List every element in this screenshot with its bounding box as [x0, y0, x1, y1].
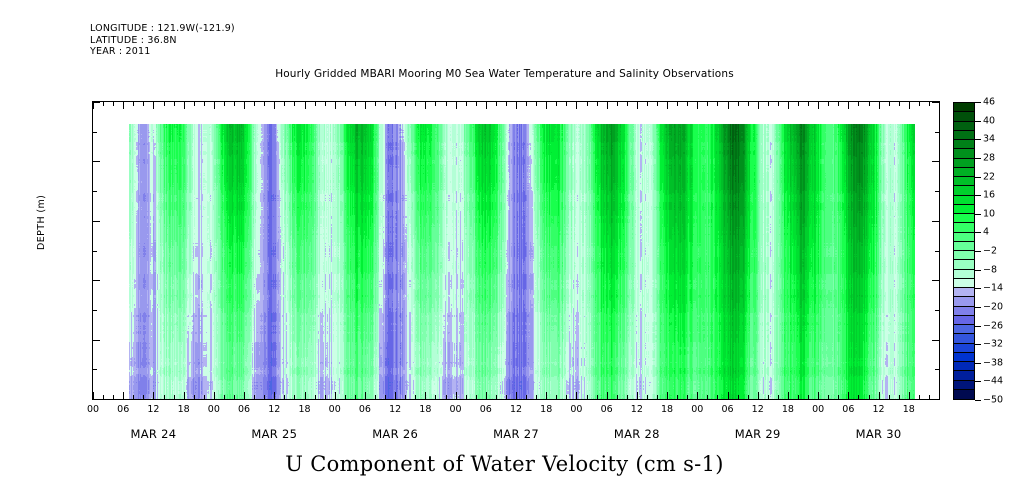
x-tick [476, 102, 477, 106]
x-tick [838, 102, 839, 106]
colorbar-tick-label: 4 [983, 227, 989, 238]
year-text: YEAR : 2011 [90, 46, 235, 58]
x-tick [224, 102, 225, 106]
colorbar-band [954, 362, 974, 371]
x-tick [315, 395, 316, 399]
day-label: MAR 27 [471, 427, 561, 441]
x-tick [607, 102, 608, 109]
colorbar-tick-label: 46 [983, 97, 995, 108]
day-label: MAR 25 [229, 427, 319, 441]
colorbar-band [954, 353, 974, 362]
longitude-text: LONGITUDE : 121.9W(-121.9) [90, 23, 235, 35]
x-tick [576, 392, 577, 399]
colorbar-band [954, 186, 974, 195]
x-tick [697, 392, 698, 399]
y-tick [935, 191, 939, 192]
y-tick [93, 102, 100, 103]
y-tick [932, 340, 939, 341]
x-tick [738, 395, 739, 399]
x-tick [184, 102, 185, 109]
colorbar-tick [975, 344, 981, 345]
y-tick [935, 369, 939, 370]
x-tick [657, 102, 658, 106]
x-tick [566, 102, 567, 106]
x-tick [627, 102, 628, 106]
colorbar-band [954, 325, 974, 334]
y-tick [93, 310, 97, 311]
x-tick [516, 102, 517, 109]
x-tick [466, 102, 467, 106]
x-tick [919, 395, 920, 399]
heatmap-plot-area [92, 101, 940, 400]
x-tick [405, 395, 406, 399]
colorbar-band [954, 288, 974, 297]
x-tick [244, 102, 245, 109]
x-tick [738, 102, 739, 106]
x-tick [435, 102, 436, 106]
colorbar-band [954, 159, 974, 168]
x-tick [778, 102, 779, 106]
x-tick [365, 392, 366, 399]
x-tick [466, 395, 467, 399]
x-tick [637, 102, 638, 109]
x-tick [526, 395, 527, 399]
day-label: MAR 28 [592, 427, 682, 441]
x-tick [506, 102, 507, 106]
colorbar-band [954, 205, 974, 214]
x-tick [879, 392, 880, 399]
x-tick [164, 102, 165, 106]
x-tick [556, 102, 557, 106]
y-tick [93, 280, 100, 281]
colorbar-tick-label: −38 [983, 357, 1003, 368]
hour-tick-label: 00 [682, 404, 712, 415]
x-tick [345, 102, 346, 106]
x-tick [385, 395, 386, 399]
colorbar-band [954, 297, 974, 306]
x-tick [264, 102, 265, 106]
colorbar-band [954, 196, 974, 205]
hour-tick-label: 06 [471, 404, 501, 415]
velocity-heatmap-canvas [129, 124, 915, 399]
x-tick [848, 392, 849, 399]
x-tick [808, 395, 809, 399]
x-tick [647, 102, 648, 106]
x-tick [194, 102, 195, 106]
colorbar-tick-label: −14 [983, 283, 1003, 294]
colorbar-tick [975, 232, 981, 233]
x-tick [889, 102, 890, 106]
hour-tick-label: 00 [320, 404, 350, 415]
y-tick [932, 161, 939, 162]
x-tick [365, 102, 366, 109]
x-tick [234, 102, 235, 106]
x-tick [728, 392, 729, 399]
x-tick [879, 102, 880, 109]
colorbar-band [954, 223, 974, 232]
x-tick [556, 395, 557, 399]
colorbar-band [954, 334, 974, 343]
x-tick [153, 102, 154, 109]
x-tick [264, 395, 265, 399]
x-tick [526, 102, 527, 106]
x-tick [788, 392, 789, 399]
x-tick [587, 395, 588, 399]
colorbar-band [954, 103, 974, 112]
x-tick [93, 392, 94, 399]
x-tick [858, 395, 859, 399]
x-tick [113, 395, 114, 399]
x-tick [546, 392, 547, 399]
x-tick [395, 392, 396, 399]
x-tick [707, 395, 708, 399]
colorbar-band [954, 307, 974, 316]
hour-tick-label: 18 [773, 404, 803, 415]
hour-tick-label: 18 [652, 404, 682, 415]
x-tick [456, 102, 457, 109]
hour-tick-label: 06 [592, 404, 622, 415]
y-tick [932, 399, 939, 400]
x-tick [375, 102, 376, 106]
x-tick [667, 392, 668, 399]
x-tick [617, 395, 618, 399]
x-tick [768, 102, 769, 106]
colorbar-tick-label: −20 [983, 301, 1003, 312]
colorbar-tick-label: −50 [983, 395, 1003, 406]
hour-tick-label: 18 [531, 404, 561, 415]
x-tick [828, 395, 829, 399]
x-tick [103, 395, 104, 399]
x-tick [909, 102, 910, 109]
x-tick [597, 102, 598, 106]
hour-tick-label: 18 [290, 404, 320, 415]
colorbar-tick-label: 10 [983, 208, 995, 219]
x-tick [597, 395, 598, 399]
x-tick [647, 395, 648, 399]
hour-tick-label: 12 [138, 404, 168, 415]
colorbar-band [954, 279, 974, 288]
chart-title: Hourly Gridded MBARI Mooring M0 Sea Wate… [0, 68, 1009, 80]
x-tick [758, 392, 759, 399]
x-tick [717, 102, 718, 106]
x-tick [748, 102, 749, 106]
colorbar-band [954, 140, 974, 149]
heatmap-canvas-wrap [93, 102, 939, 399]
colorbar-tick [975, 381, 981, 382]
colorbar-tick [975, 326, 981, 327]
x-tick [818, 392, 819, 399]
x-tick [153, 392, 154, 399]
colorbar-tick [975, 102, 981, 103]
x-tick [103, 102, 104, 106]
hour-tick-label: 00 [199, 404, 229, 415]
y-tick [935, 310, 939, 311]
x-tick [516, 392, 517, 399]
x-tick [123, 392, 124, 399]
y-tick [932, 280, 939, 281]
x-tick [587, 102, 588, 106]
x-tick [446, 395, 447, 399]
x-tick [536, 395, 537, 399]
x-tick [425, 102, 426, 109]
colorbar [953, 102, 975, 400]
x-tick [345, 395, 346, 399]
x-tick [576, 102, 577, 109]
x-tick [184, 392, 185, 399]
colorbar-tick [975, 307, 981, 308]
x-tick [294, 102, 295, 106]
x-tick [808, 102, 809, 106]
colorbar-band [954, 390, 974, 399]
colorbar-band [954, 122, 974, 131]
colorbar-tick-label: −8 [983, 264, 997, 275]
colorbar-tick-label: 40 [983, 115, 995, 126]
hour-tick-label: 00 [803, 404, 833, 415]
latitude-text: LATITUDE : 36.8N [90, 35, 235, 47]
x-tick [687, 102, 688, 106]
x-tick [486, 392, 487, 399]
x-tick [214, 102, 215, 109]
x-tick [929, 102, 930, 106]
x-tick [174, 395, 175, 399]
hour-tick-label: 06 [229, 404, 259, 415]
colorbar-tick-label: −32 [983, 339, 1003, 350]
x-tick [244, 392, 245, 399]
colorbar-band [954, 214, 974, 223]
colorbar-tick-label: 28 [983, 152, 995, 163]
y-tick [93, 340, 100, 341]
x-tick [536, 102, 537, 106]
hour-tick-label: 18 [410, 404, 440, 415]
colorbar-band [954, 177, 974, 186]
colorbar-band [954, 260, 974, 269]
x-tick [657, 395, 658, 399]
day-label: MAR 26 [350, 427, 440, 441]
y-tick [93, 132, 97, 133]
x-tick [899, 395, 900, 399]
x-tick [204, 395, 205, 399]
x-tick [889, 395, 890, 399]
x-tick [294, 395, 295, 399]
colorbar-tick [975, 270, 981, 271]
colorbar-tick [975, 363, 981, 364]
x-tick [234, 395, 235, 399]
y-tick [93, 399, 100, 400]
colorbar-band [954, 168, 974, 177]
colorbar-tick [975, 158, 981, 159]
y-tick [93, 221, 100, 222]
x-tick [143, 395, 144, 399]
x-tick [274, 102, 275, 109]
x-tick [254, 395, 255, 399]
colorbar-tick [975, 214, 981, 215]
x-tick [909, 392, 910, 399]
x-tick [325, 102, 326, 106]
hour-tick-label: 00 [441, 404, 471, 415]
y-tick [93, 369, 97, 370]
x-tick [254, 102, 255, 106]
x-tick [204, 102, 205, 106]
colorbar-band [954, 381, 974, 390]
x-tick [174, 102, 175, 106]
x-tick [496, 395, 497, 399]
x-tick [315, 102, 316, 106]
hour-tick-label: 12 [864, 404, 894, 415]
x-tick [194, 395, 195, 399]
x-tick [143, 102, 144, 106]
x-tick [788, 102, 789, 109]
x-tick [939, 102, 940, 109]
x-tick [305, 392, 306, 399]
colorbar-band [954, 270, 974, 279]
x-tick [375, 395, 376, 399]
colorbar-tick-label: −2 [983, 246, 997, 257]
colorbar-band [954, 371, 974, 380]
colorbar-band [954, 251, 974, 260]
x-tick [425, 392, 426, 399]
x-tick [798, 395, 799, 399]
colorbar-tick [975, 251, 981, 252]
x-tick [758, 102, 759, 109]
x-tick [607, 392, 608, 399]
x-tick [405, 102, 406, 106]
x-tick [677, 102, 678, 106]
x-tick [707, 102, 708, 106]
x-tick [214, 392, 215, 399]
hour-tick-label: 06 [350, 404, 380, 415]
x-tick [385, 102, 386, 106]
x-tick [848, 102, 849, 109]
y-tick [93, 191, 97, 192]
colorbar-band [954, 131, 974, 140]
x-tick [768, 395, 769, 399]
hour-tick-label: 00 [561, 404, 591, 415]
day-label: MAR 29 [713, 427, 803, 441]
x-tick [335, 102, 336, 109]
x-tick [164, 395, 165, 399]
colorbar-band [954, 242, 974, 251]
x-tick [818, 102, 819, 109]
colorbar-tick-label: 34 [983, 134, 995, 145]
x-tick [274, 392, 275, 399]
hour-tick-label: 12 [380, 404, 410, 415]
x-tick [415, 395, 416, 399]
x-tick [697, 102, 698, 109]
colorbar-tick [975, 195, 981, 196]
x-tick [415, 102, 416, 106]
hour-tick-label: 12 [259, 404, 289, 415]
x-tick [919, 102, 920, 106]
x-tick [728, 102, 729, 109]
x-tick [617, 102, 618, 106]
x-tick [838, 395, 839, 399]
y-tick [935, 132, 939, 133]
hour-tick-label: 12 [743, 404, 773, 415]
y-tick [932, 221, 939, 222]
x-tick [305, 102, 306, 109]
colorbar-tick-label: −26 [983, 320, 1003, 331]
plot-caption: U Component of Water Velocity (cm s-1) [0, 452, 1009, 476]
colorbar-band [954, 233, 974, 242]
x-tick [123, 102, 124, 109]
colorbar-tick [975, 139, 981, 140]
x-tick [325, 395, 326, 399]
hour-tick-label: 06 [833, 404, 863, 415]
hour-tick-label: 00 [78, 404, 108, 415]
x-tick [939, 392, 940, 399]
x-tick [133, 395, 134, 399]
y-axis-title: DEPTH (m) [36, 195, 47, 250]
x-tick [506, 395, 507, 399]
x-tick [677, 395, 678, 399]
colorbar-tick-label: −44 [983, 376, 1003, 387]
hour-tick-label: 18 [894, 404, 924, 415]
x-tick [778, 395, 779, 399]
day-label: MAR 30 [834, 427, 924, 441]
x-tick [717, 395, 718, 399]
x-tick [858, 102, 859, 106]
x-tick [637, 392, 638, 399]
x-tick [496, 102, 497, 106]
x-tick [476, 395, 477, 399]
x-tick [355, 395, 356, 399]
hour-tick-label: 06 [108, 404, 138, 415]
x-tick [798, 102, 799, 106]
x-tick [828, 102, 829, 106]
x-tick [748, 395, 749, 399]
x-tick [395, 102, 396, 109]
day-label: MAR 24 [108, 427, 198, 441]
hour-tick-label: 12 [622, 404, 652, 415]
x-tick [355, 102, 356, 106]
x-tick [284, 395, 285, 399]
colorbar-band [954, 149, 974, 158]
x-tick [284, 102, 285, 106]
colorbar-tick [975, 121, 981, 122]
hour-tick-label: 06 [713, 404, 743, 415]
hour-tick-label: 18 [169, 404, 199, 415]
colorbar-tick-label: 16 [983, 190, 995, 201]
x-tick [627, 395, 628, 399]
y-tick [93, 251, 97, 252]
x-tick [93, 102, 94, 109]
x-tick [456, 392, 457, 399]
x-tick [133, 102, 134, 106]
colorbar-band [954, 316, 974, 325]
colorbar-band [954, 344, 974, 353]
x-tick [113, 102, 114, 106]
x-tick [667, 102, 668, 109]
x-tick [546, 102, 547, 109]
y-tick [93, 161, 100, 162]
y-tick [932, 102, 939, 103]
x-tick [869, 395, 870, 399]
station-metadata: LONGITUDE : 121.9W(-121.9) LATITUDE : 36… [90, 23, 235, 58]
x-tick [687, 395, 688, 399]
colorbar-tick [975, 288, 981, 289]
x-tick [566, 395, 567, 399]
x-tick [869, 102, 870, 106]
colorbar-tick [975, 400, 981, 401]
y-tick [935, 251, 939, 252]
x-tick [446, 102, 447, 106]
x-tick [435, 395, 436, 399]
colorbar-band [954, 112, 974, 121]
x-tick [335, 392, 336, 399]
hour-tick-label: 12 [501, 404, 531, 415]
x-tick [486, 102, 487, 109]
x-tick [929, 395, 930, 399]
